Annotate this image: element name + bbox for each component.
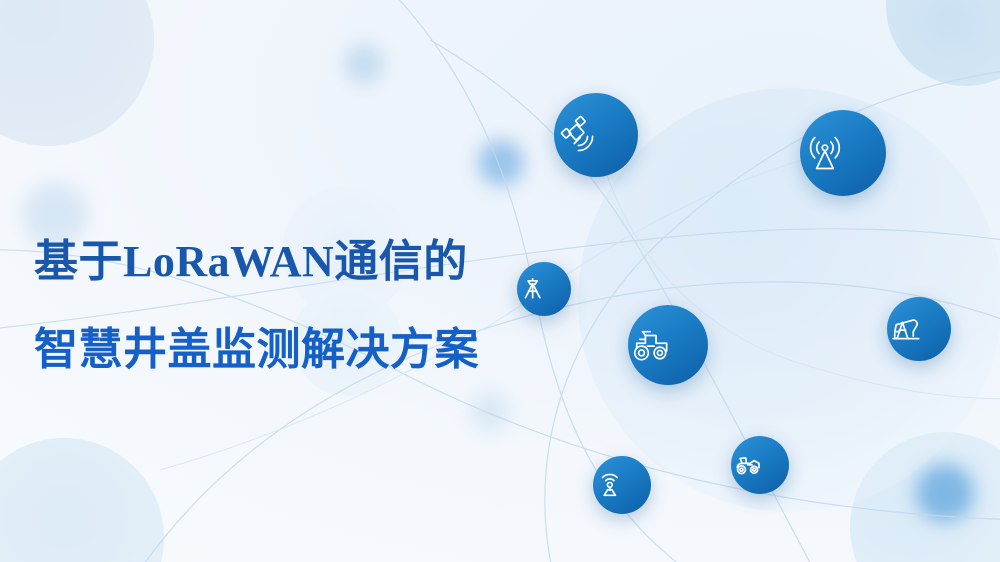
- satellite-icon: [554, 111, 638, 160]
- decor-blob-bottom-left: [0, 438, 164, 562]
- title-line-1: 基于LoRaWAN通信的: [34, 232, 554, 292]
- harvester-icon: [731, 448, 789, 482]
- pumpjack-icon: [887, 310, 951, 347]
- tractor-icon-node[interactable]: [628, 305, 708, 385]
- signal-beacon-icon: [593, 468, 651, 502]
- decor-blob-top-right: [886, 0, 1000, 86]
- decor-blob-top-left: [0, 0, 154, 146]
- harvester-icon-node[interactable]: [731, 436, 789, 494]
- decor-dot-e: [470, 392, 510, 432]
- signal-beacon-icon-node[interactable]: [593, 456, 651, 514]
- decor-dot-a: [478, 140, 524, 186]
- decor-globe-circle: [578, 88, 1000, 512]
- radio-tower-icon-node[interactable]: [800, 110, 886, 196]
- decor-dot-b: [344, 44, 384, 84]
- tractor-icon: [628, 322, 708, 368]
- decor-dot-d: [916, 464, 974, 522]
- pumpjack-icon-node[interactable]: [887, 297, 951, 361]
- satellite-icon-node[interactable]: [554, 93, 638, 177]
- decor-blob-bottom-right: [850, 432, 1000, 562]
- title-block: 基于LoRaWAN通信的 智慧井盖监测解决方案: [34, 232, 554, 380]
- radio-tower-icon: [800, 128, 886, 178]
- title-line-2: 智慧井盖监测解决方案: [34, 320, 554, 380]
- title-slide: 基于LoRaWAN通信的 智慧井盖监测解决方案: [0, 0, 1000, 562]
